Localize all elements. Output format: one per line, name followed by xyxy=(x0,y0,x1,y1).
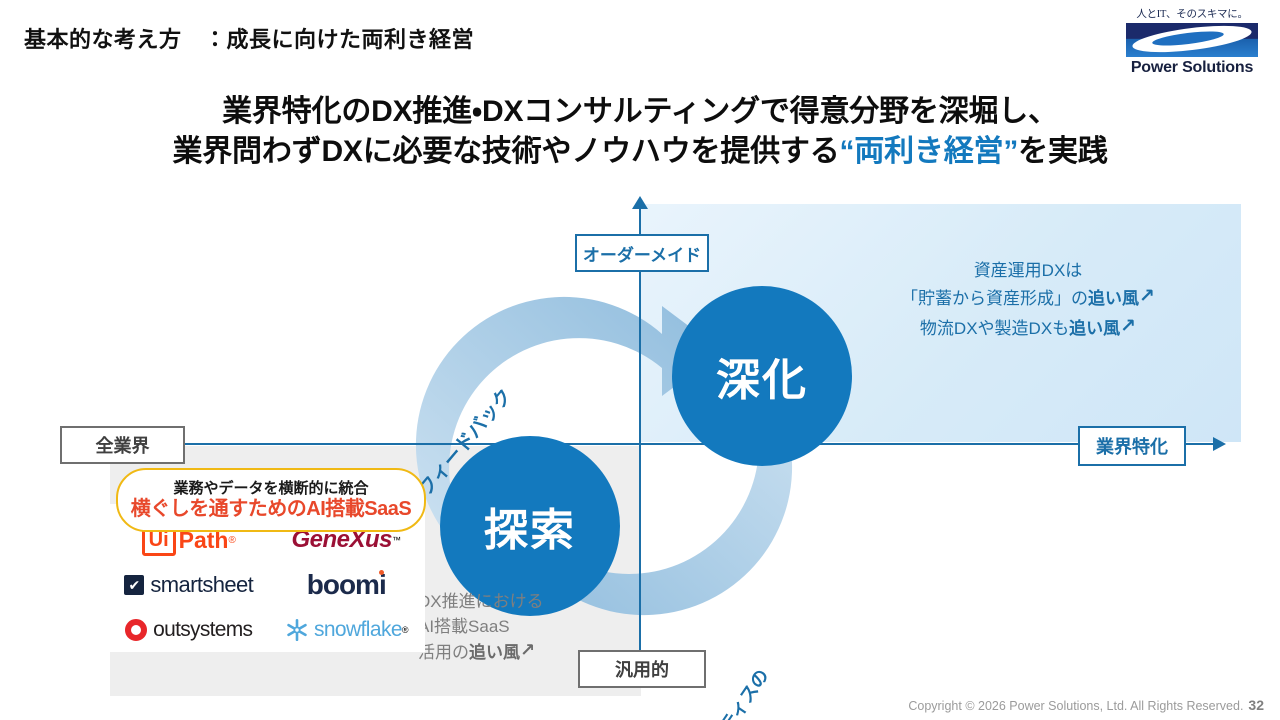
slide-root: 基本的な考え方 ：成長に向けた両利き経営 人とIT、そのスキマに。 Power … xyxy=(0,0,1280,720)
circle-tansaku: 探索 xyxy=(440,436,620,616)
page-number: 32 xyxy=(1248,697,1264,713)
logo-tagline: 人とIT、そのスキマに。 xyxy=(1116,6,1268,21)
horizontal-axis-arrowhead-icon xyxy=(1213,437,1226,451)
note-lower-center-line-1: DX推進における xyxy=(418,590,544,615)
axis-label-top: オーダーメイド xyxy=(575,234,709,272)
boomi-dot-icon xyxy=(379,570,384,575)
circle-tansaku-label: 探索 xyxy=(484,494,576,558)
headline-line-2-before: 業界問わずDXに必要な技術やノウハウを提供する xyxy=(172,135,839,168)
axis-label-right: 業界特化 xyxy=(1078,426,1186,466)
tailwind-arrow-gray-icon: ↗ xyxy=(520,637,535,663)
circle-shinka: 深化 xyxy=(672,286,852,466)
footer-copyright: Copyright © 2026 Power Solutions, Ltd. A… xyxy=(908,699,1243,713)
saas-callout-line-2: 横ぐしを通すためのAI搭載SaaS xyxy=(131,499,411,519)
note-upper-right-line-1: 資産運用DXは xyxy=(878,258,1178,284)
note-upper-right-line-2-plain: 「貯蓄から資産形成」の xyxy=(901,289,1088,308)
note-upper-right-line-3-bold: 追い風 xyxy=(1069,319,1120,338)
note-lower-center-line-2: AI搭載SaaS xyxy=(418,615,544,640)
note-lower-center: DX推進における AI搭載SaaS 活用の追い風↗ xyxy=(418,590,544,666)
note-lower-center-line-3-plain: 活用の xyxy=(418,643,469,662)
axis-label-bottom: 汎用的 xyxy=(578,650,706,688)
circle-shinka-label: 深化 xyxy=(716,344,808,408)
note-upper-right-line-3: 物流DXや製造DXも追い風↗ xyxy=(878,314,1178,343)
uipath-registered-icon: ® xyxy=(228,535,235,546)
vendor-logo-outsystems: outsystems xyxy=(125,618,252,642)
note-upper-right: 資産運用DXは 「貯蓄から資産形成」の追い風↗ 物流DXや製造DXも追い風↗ xyxy=(878,258,1178,343)
footer: Copyright © 2026 Power Solutions, Ltd. A… xyxy=(908,697,1264,713)
horizontal-axis xyxy=(178,443,1218,445)
note-lower-center-line-3-bold: 追い風 xyxy=(469,643,520,662)
headline-line-2-after: を実践 xyxy=(1018,135,1107,168)
page-title: 基本的な考え方 ：成長に向けた両利き経営 xyxy=(24,22,474,54)
tailwind-arrow-icon: ↗ xyxy=(1139,282,1155,311)
snowflake-wordmark: snowflake xyxy=(314,618,402,642)
outsystems-ring-icon xyxy=(125,619,147,641)
smartsheet-wordmark: smartsheet xyxy=(150,572,253,598)
headline: 業界特化のDX推進・DXコンサルティングで得意分野を深堀し、 業界問わずDXに必… xyxy=(0,92,1280,172)
tailwind-arrow-icon: ↗ xyxy=(1120,312,1136,341)
note-lower-center-line-3: 活用の追い風↗ xyxy=(418,639,544,666)
vendor-logo-smartsheet: ✔smartsheet xyxy=(124,572,253,598)
saas-callout-line-1: 業務やデータを横断的に統合 xyxy=(173,481,368,496)
vertical-axis xyxy=(639,204,641,688)
genexus-trademark-icon: ™ xyxy=(392,535,401,545)
headline-line-2-accent: “両利き経営” xyxy=(840,135,1019,168)
logo-company-name: Power Solutions xyxy=(1116,59,1268,77)
boomi-wordmark: boomi xyxy=(307,569,386,601)
quadrant-diagram: オーダーメイド 業界特化 全業界 汎用的 深化 探索 フィードバック ベストプラ… xyxy=(0,196,1280,696)
axis-label-left: 全業界 xyxy=(60,426,185,464)
logo-mark-icon xyxy=(1126,23,1258,57)
note-upper-right-line-3-plain: 物流DXや製造DXも xyxy=(920,319,1069,338)
headline-line-1: 業界特化のDX推進・DXコンサルティングで得意分野を深堀し、 xyxy=(0,92,1280,132)
vendor-logo-boomi: boomi xyxy=(307,569,386,601)
snowflake-icon xyxy=(284,617,310,643)
vendor-logo-snowflake: snowflake® xyxy=(284,617,409,643)
note-upper-right-line-2-bold: 追い風 xyxy=(1088,289,1139,308)
headline-line-2: 業界問わずDXに必要な技術やノウハウを提供する“両利き経営”を実践 xyxy=(0,132,1280,172)
company-logo: 人とIT、そのスキマに。 Power Solutions xyxy=(1116,6,1268,77)
vertical-axis-arrowhead-icon xyxy=(632,196,648,209)
boomi-wordmark-text: boomi xyxy=(307,569,386,600)
snowflake-registered-icon: ® xyxy=(402,625,409,635)
saas-callout-pill: 業務やデータを横断的に統合 横ぐしを通すためのAI搭載SaaS xyxy=(116,468,426,532)
smartsheet-check-icon: ✔ xyxy=(124,575,144,595)
outsystems-wordmark: outsystems xyxy=(153,618,252,642)
note-upper-right-line-2: 「貯蓄から資産形成」の追い風↗ xyxy=(878,284,1178,313)
